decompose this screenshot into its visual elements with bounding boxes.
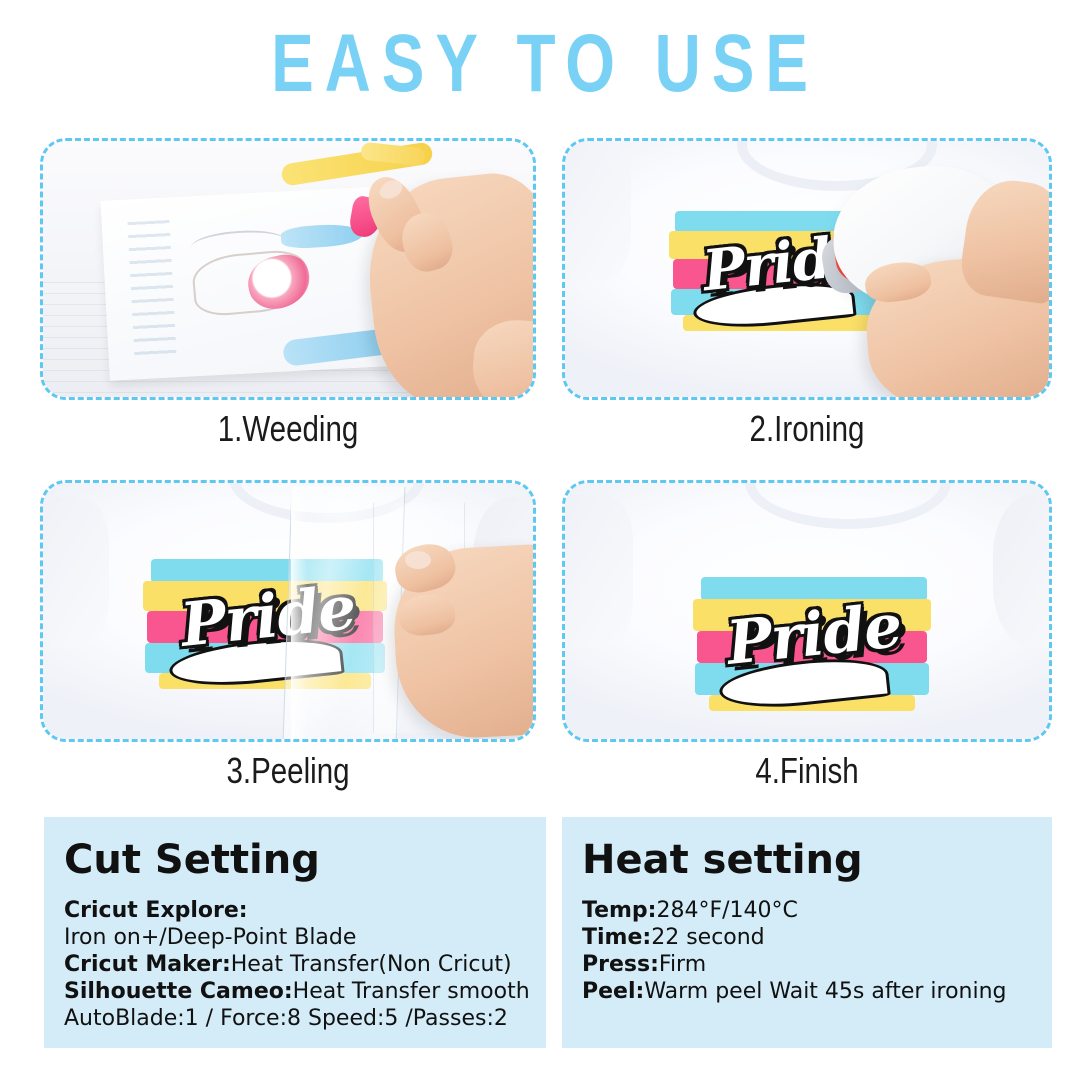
heat-setting-key: Time: [582,925,651,950]
shirt-sleeve-right [993,495,1049,647]
heat-setting-value: Warm peel Wait 45s after ironing [644,979,1006,1004]
step-card-finish: Pride [562,480,1052,742]
heat-setting-value: 22 second [651,925,764,950]
heat-setting-row: Time:22 second [582,924,1032,951]
heat-setting-value: Firm [659,952,706,977]
cut-setting-key: Cricut Maker: [64,952,231,977]
step-caption-peeling: 3.Peeling [85,750,492,792]
heat-setting-row: Press:Firm [582,951,1032,978]
cut-setting-key: Silhouette Cameo: [64,979,293,1004]
step-caption-weeding: 1.Weeding [85,408,492,450]
heat-setting-value: 284°F/140°C [656,898,797,923]
carrier-sheet-highlight [291,487,307,739]
cut-setting-value: Iron on+/Deep-Point Blade [64,925,356,950]
heat-setting-key: Temp: [582,898,656,923]
cut-setting-value: Heat Transfer smooth [293,979,530,1004]
cut-setting-panel: Cut Setting Cricut Explore: Iron on+/Dee… [44,817,546,1048]
step-card-ironing: Pride [562,138,1052,400]
cut-setting-value: Heat Transfer(Non Cricut) [231,952,512,977]
heat-setting-key: Press: [582,952,659,977]
cut-setting-row: Cricut Explore: [64,897,526,924]
step-caption-finish: 4.Finish [606,750,1008,792]
weeded-strips [127,220,176,357]
step-photo-ironing: Pride [565,141,1049,397]
shirt-sleeve-left [565,141,631,281]
cut-setting-row: Silhouette Cameo:Heat Transfer smooth [64,978,526,1005]
step-photo-finish: Pride [565,483,1049,739]
fingernail [405,551,431,569]
shirt-sleeve-left [43,497,109,647]
cut-setting-row: Iron on+/Deep-Point Blade [64,924,526,951]
page-title: EASY TO USE [120,22,970,106]
step-photo-peeling: Pride [43,483,533,739]
cut-setting-row: AutoBlade:1 / Force:8 Speed:5 /Passes:2 [64,1005,526,1032]
step-card-peeling: Pride [40,480,536,742]
cut-setting-heading: Cut Setting [64,839,526,881]
cut-setting-value: AutoBlade:1 / Force:8 Speed:5 /Passes:2 [64,1006,508,1031]
pride-design: Pride [693,569,935,721]
step-photo-weeding [43,141,533,397]
heat-setting-row: Peel:Warm peel Wait 45s after ironing [582,978,1032,1005]
infographic-page: EASY TO USE [0,0,1090,1090]
cut-setting-row: Cricut Maker:Heat Transfer(Non Cricut) [64,951,526,978]
cut-setting-key: Cricut Explore: [64,898,248,923]
step-caption-ironing: 2.Ironing [606,408,1008,450]
step-card-weeding [40,138,536,400]
heat-setting-panel: Heat setting Temp:284°F/140°C Time:22 se… [562,817,1052,1048]
heat-setting-row: Temp:284°F/140°C [582,897,1032,924]
shirt-sleeve-left [565,495,633,647]
heat-setting-key: Peel: [582,979,644,1004]
heat-setting-heading: Heat setting [582,839,1032,881]
